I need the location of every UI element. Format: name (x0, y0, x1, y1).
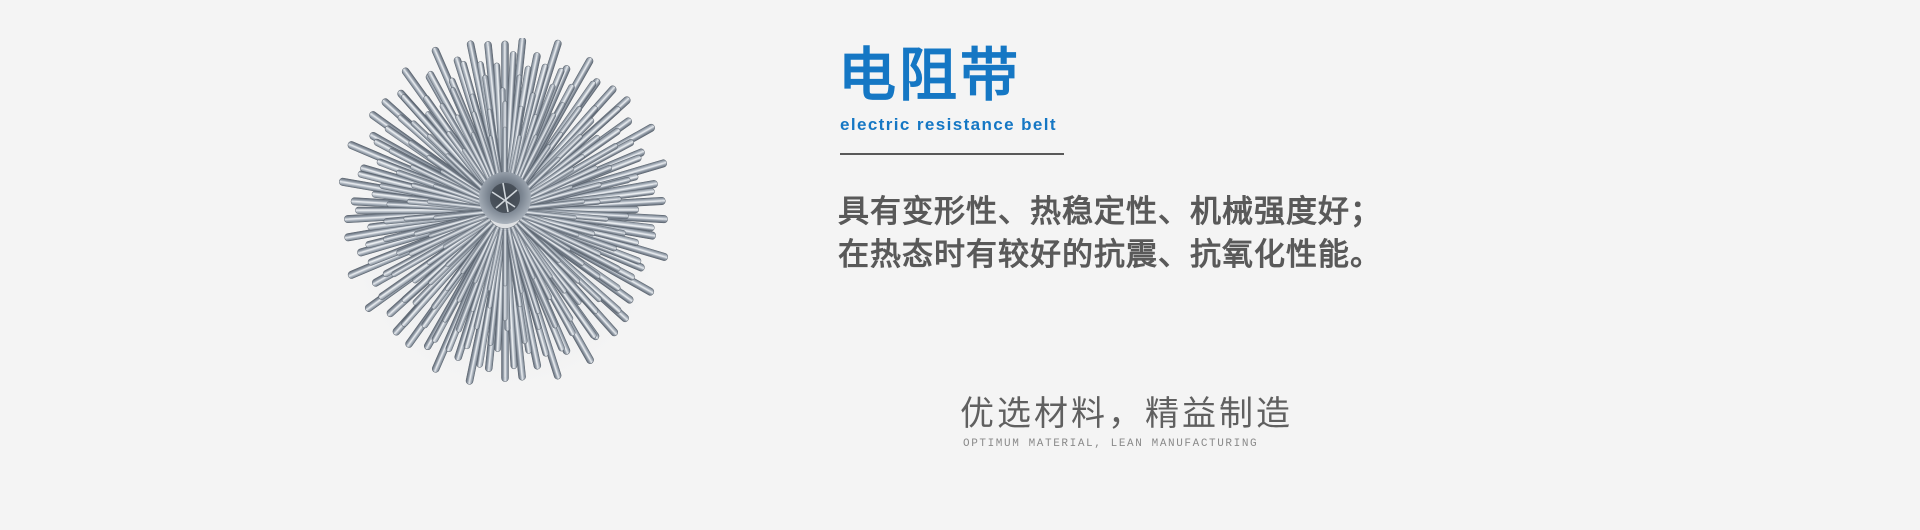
tagline-block: 优选材料，精益制造 OPTIMUM MATERIAL, LEAN MANUFAC… (960, 396, 1520, 450)
text-content: 电阻带 electric resistance belt 具有变形性、热稳定性、… (838, 45, 1598, 276)
tagline-english: OPTIMUM MATERIAL, LEAN MANUFACTURING (963, 438, 1520, 450)
page-title: 电阻带 (838, 45, 1598, 106)
description-line: 在热态时有较好的抗震、抗氧化性能。 (838, 234, 1598, 277)
title-divider (840, 153, 1064, 155)
product-image (300, 38, 720, 388)
description-block: 具有变形性、热稳定性、机械强度好； 在热态时有较好的抗震、抗氧化性能。 (838, 191, 1598, 277)
page-subtitle: electric resistance belt (840, 115, 1598, 135)
tagline-chinese: 优选材料，精益制造 (960, 396, 1520, 433)
description-line: 具有变形性、热稳定性、机械强度好； (838, 191, 1598, 234)
resistance-belt-illustration (300, 38, 720, 388)
product-banner: 电阻带 electric resistance belt 具有变形性、热稳定性、… (0, 0, 1920, 530)
